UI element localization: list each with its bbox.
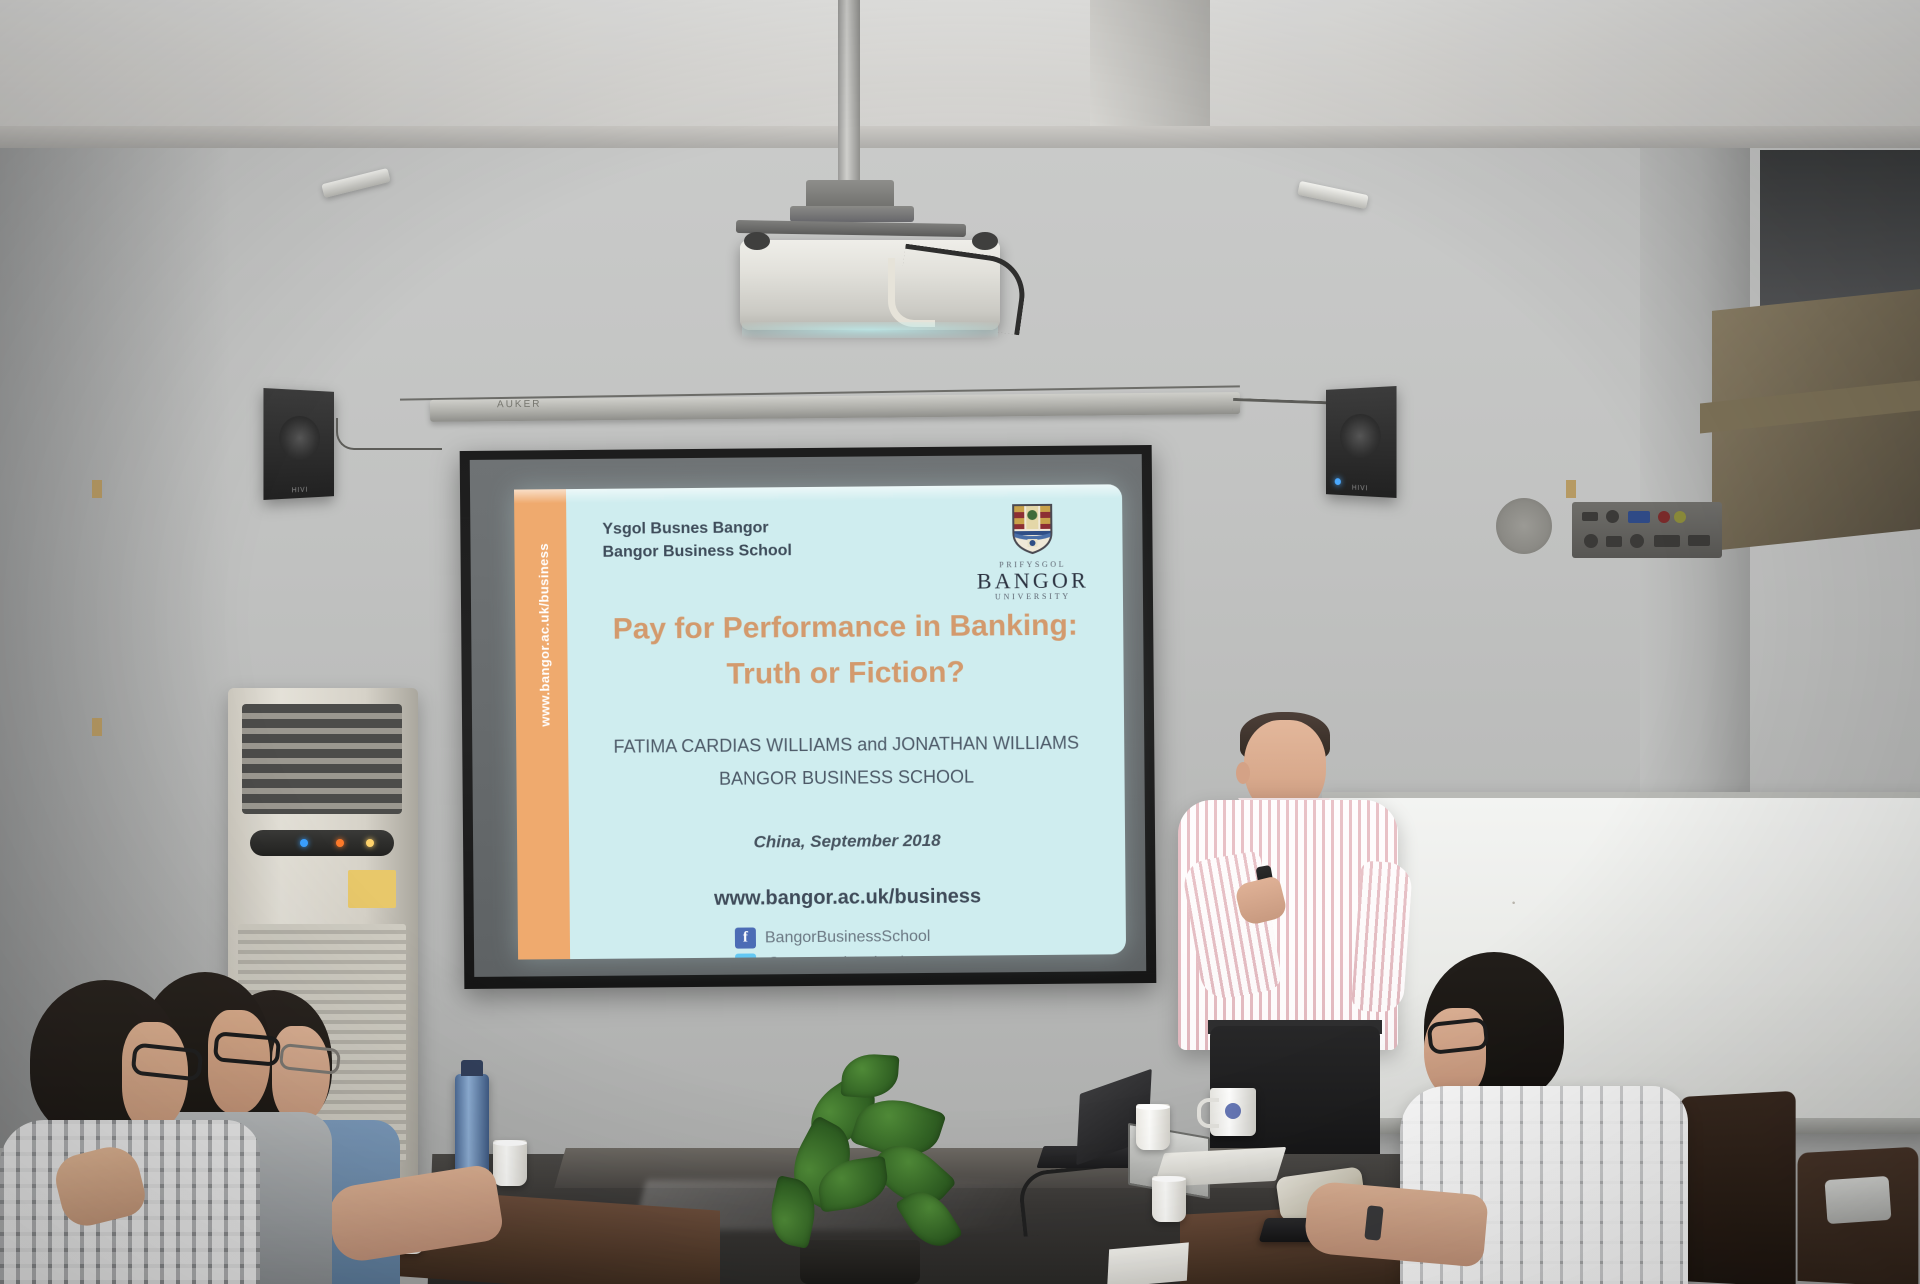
- roller-brand-label: AUKER: [497, 399, 542, 410]
- projector-mount-pole: [838, 0, 860, 182]
- school-name-block: Ysgol Busnes Bangor Bangor Business Scho…: [602, 517, 792, 564]
- mug-logo: [1225, 1103, 1241, 1119]
- wall-hook: [1566, 480, 1576, 498]
- screen-surface: www.bangor.ac.uk/business Ysgol Busnes B…: [470, 454, 1146, 977]
- speaker-brand-label: HIVI: [263, 486, 334, 496]
- slide-title-line2: Truth or Fiction?: [567, 648, 1123, 698]
- paper-cup: [1152, 1176, 1186, 1222]
- wall-speaker-right: HIVI: [1326, 386, 1397, 498]
- projector-speaker-grille: [1496, 498, 1552, 554]
- projection-screen: www.bangor.ac.uk/business Ysgol Busnes B…: [460, 445, 1157, 989]
- whiteboard: [1322, 792, 1920, 1134]
- bangor-university-logo: PRIFYSGOL BANGOR UNIVERSITY: [976, 503, 1089, 602]
- chair: [1680, 1091, 1795, 1284]
- meeting-room-photo: AUKER HIVI HIVI www.bangor.ac.uk/busines…: [0, 0, 1920, 1284]
- plant-pot: [800, 1240, 920, 1284]
- sidebar-url-label: www.bangor.ac.uk/business: [536, 530, 553, 740]
- ac-vent-grille: [242, 704, 402, 814]
- slide-content: Ysgol Busnes Bangor Bangor Business Scho…: [566, 484, 1126, 959]
- slide-event-line: China, September 2018: [569, 829, 1125, 854]
- school-name-welsh: Ysgol Busnes Bangor: [602, 517, 792, 541]
- slide-authors: FATIMA CARDIAS WILLIAMS and JONATHAN WIL…: [568, 726, 1124, 764]
- paper-cup: [1136, 1104, 1170, 1150]
- slide-sidebar: www.bangor.ac.uk/business: [514, 489, 570, 959]
- projector-mount-arm: [790, 206, 914, 222]
- twitter-handle: @BangorBizSchool: [765, 954, 904, 960]
- coffee-mug: [1210, 1088, 1256, 1136]
- social-row-facebook: f BangorBusinessSchool: [735, 926, 961, 949]
- slide-affiliation: BANGOR BUSINESS SCHOOL: [568, 760, 1124, 798]
- attendee-back-left-face: [272, 1026, 330, 1122]
- paper-cup: [493, 1140, 527, 1186]
- chair-cushion: [1825, 1176, 1892, 1224]
- presenter-ear: [1236, 762, 1250, 784]
- napkin: [1107, 1242, 1189, 1284]
- bottle-cap: [461, 1060, 483, 1076]
- ac-led-blue: [300, 839, 308, 847]
- facebook-handle: BangorBusinessSchool: [765, 927, 931, 946]
- speaker-cable: [336, 418, 442, 450]
- slide-title-line1: Pay for Performance in Banking:: [567, 602, 1123, 652]
- speaker-brand-label: HIVI: [1326, 484, 1397, 494]
- slide-title: Pay for Performance in Banking: Truth or…: [567, 602, 1124, 698]
- projector-lens-glow: [742, 322, 998, 338]
- ac-led-amber: [366, 839, 374, 847]
- projector-port-panel: [1572, 502, 1722, 558]
- mug-handle: [1197, 1098, 1219, 1128]
- slide-social-links: f BangorBusinessSchool @BangorBizSchool: [570, 924, 1126, 959]
- school-name-english: Bangor Business School: [602, 540, 792, 564]
- attendee-right-glasses: [1426, 1017, 1489, 1055]
- wall-hook: [92, 480, 102, 498]
- speaker-cone: [279, 415, 320, 460]
- ac-label-sticker: [348, 870, 396, 908]
- wall-hook: [92, 718, 102, 736]
- ac-control-panel: [250, 830, 394, 856]
- speaker-cone: [1340, 413, 1381, 458]
- wall-speaker-left: HIVI: [263, 388, 334, 500]
- slide-website-url: www.bangor.ac.uk/business: [569, 884, 1125, 912]
- facebook-icon: f: [735, 927, 756, 948]
- attendee-middle-left-glasses: [213, 1031, 281, 1067]
- projector-power-cable: [888, 258, 935, 327]
- water-bottle: [455, 1074, 489, 1178]
- slide-authors-block: FATIMA CARDIAS WILLIAMS and JONATHAN WIL…: [568, 726, 1125, 797]
- heraldic-shield-icon: [1011, 503, 1053, 555]
- logo-bangor-text: BANGOR: [977, 569, 1089, 593]
- twitter-bird-glyph: [739, 958, 753, 960]
- social-row-twitter: @BangorBizSchool: [735, 952, 961, 960]
- twitter-icon: [735, 953, 756, 959]
- presenter-right-arm: [1351, 860, 1413, 1013]
- projector-foot: [972, 232, 998, 250]
- projector-foot: [744, 232, 770, 250]
- presentation-slide: www.bangor.ac.uk/business Ysgol Busnes B…: [514, 484, 1126, 959]
- ac-led-orange: [336, 839, 344, 847]
